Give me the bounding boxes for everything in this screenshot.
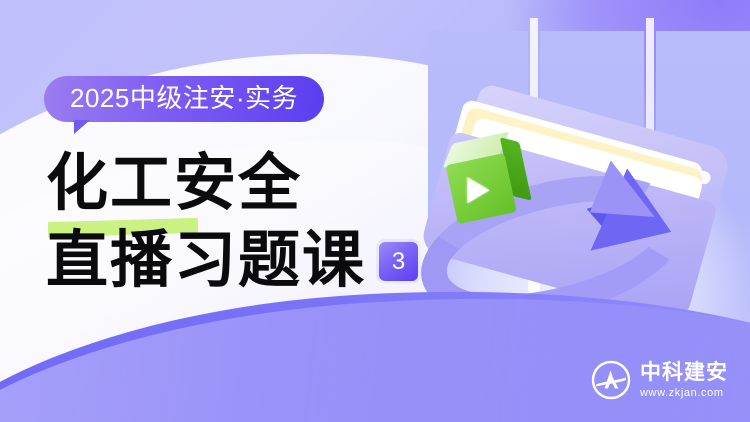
play-icon [467, 177, 489, 203]
badge-tail [74, 120, 90, 134]
course-poster: 2025中级注安·实务 化工安全 直播习题课 3 中科建安 www.zkjan.… [0, 0, 750, 422]
page-title-line1: 化工安全 [46, 150, 466, 215]
course-category-badge: 2025中级注安·实务 [44, 76, 324, 122]
episode-number-badge: 3 [376, 239, 421, 284]
course-category-label: 2025中级注安·实务 [70, 83, 298, 113]
brand-logo: 中科建安 www.zkjan.com [591, 360, 728, 400]
page-title-line2: 直播习题课 [46, 227, 366, 292]
zkjan-circle-icon [591, 360, 631, 400]
brand-url: www.zkjan.com [640, 388, 728, 399]
brand-text: 中科建安 www.zkjan.com [640, 362, 728, 399]
brand-name: 中科建安 [640, 362, 728, 383]
page-title-line2-row: 直播习题课 3 [46, 227, 466, 292]
title-block: 化工安全 直播习题课 3 [46, 150, 466, 292]
